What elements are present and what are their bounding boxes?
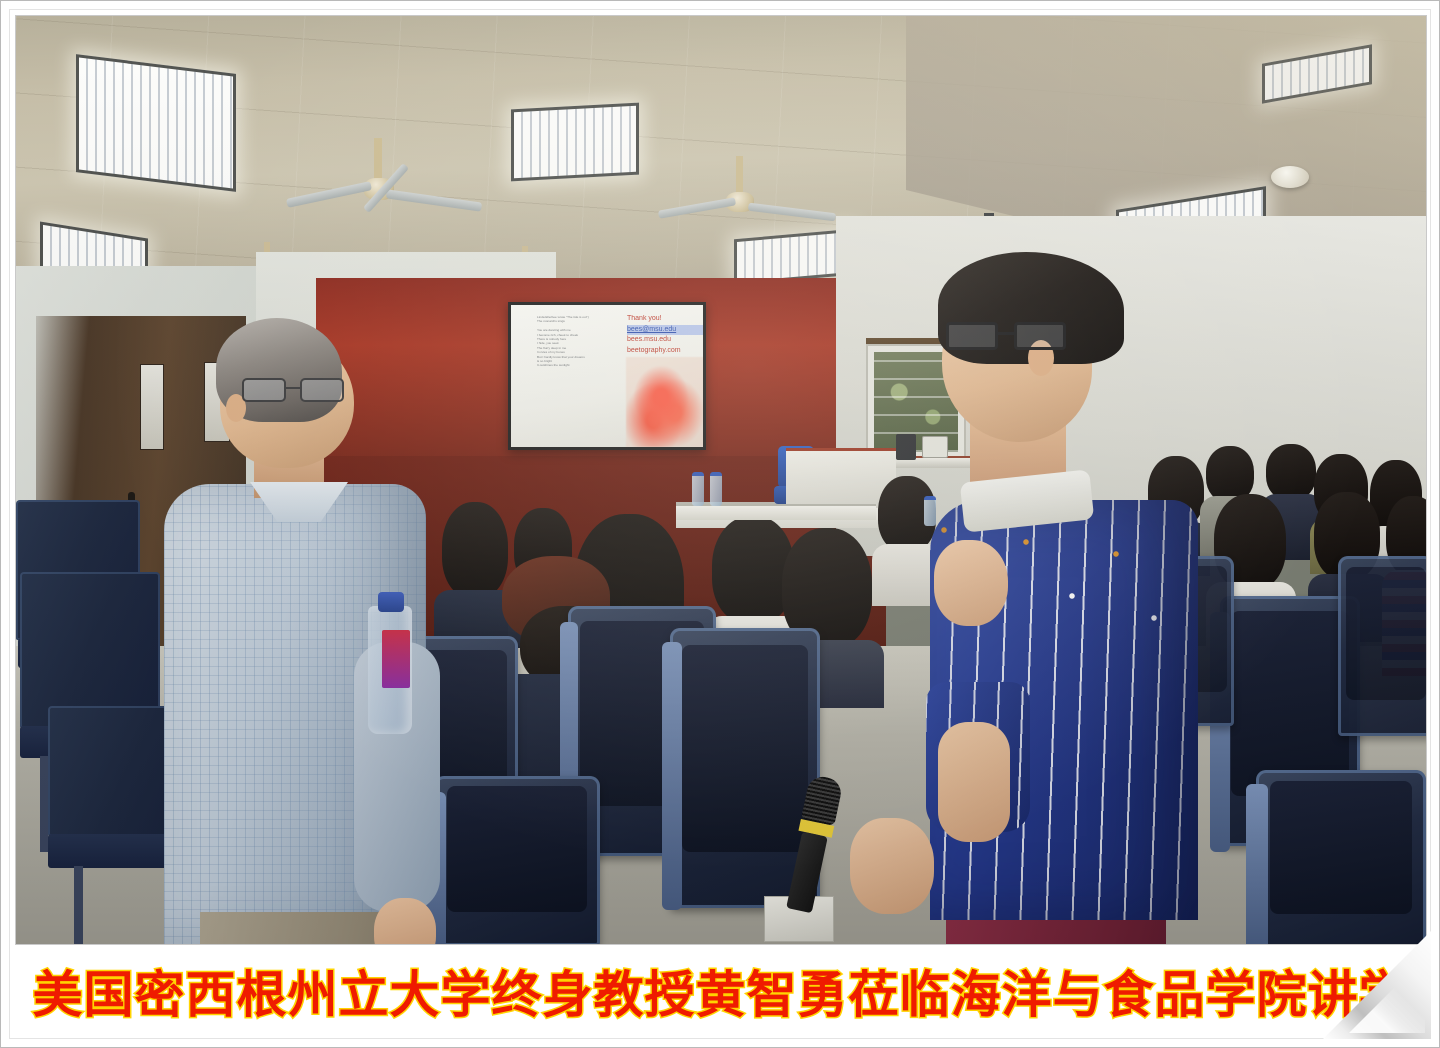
photo-frame: Linda Ellerbee wrote "The tide is out") … bbox=[0, 0, 1440, 1048]
frame-mat: Linda Ellerbee wrote "The tide is out") … bbox=[9, 9, 1431, 1039]
professor-hand bbox=[374, 898, 436, 945]
student-figure bbox=[916, 252, 1206, 945]
projection-screen: Linda Ellerbee wrote "The tide is out") … bbox=[508, 302, 706, 450]
slide-contact-block: Thank you! bees@msu.edu bees.msu.edu bee… bbox=[627, 314, 703, 356]
fluorescent-light-panel bbox=[511, 103, 639, 182]
smoke-detector bbox=[1271, 166, 1309, 188]
student-hand bbox=[934, 540, 1008, 626]
fluorescent-light-panel bbox=[76, 54, 236, 192]
water-bottle bbox=[692, 472, 704, 506]
av-equipment bbox=[896, 434, 916, 460]
eyeglasses-icon bbox=[946, 322, 1070, 352]
ceiling-fan bbox=[338, 138, 508, 228]
student-mic-hand bbox=[850, 818, 934, 914]
caption-band: 美国密西根州立大学终身教授黄智勇莅临海洋与食品学院讲学 bbox=[15, 945, 1427, 1037]
slide-poem-text: Linda Ellerbee wrote "The tide is out") … bbox=[537, 315, 615, 368]
ceiling-fan bbox=[704, 156, 854, 236]
auditorium-seat bbox=[1256, 770, 1426, 945]
slide-email-link[interactable]: bees@msu.edu bbox=[627, 325, 703, 336]
bottle-label bbox=[382, 630, 410, 688]
student-forearm bbox=[938, 722, 1010, 842]
auditorium-seat bbox=[434, 776, 600, 945]
lecture-hall-photo: Linda Ellerbee wrote "The tide is out") … bbox=[15, 15, 1427, 945]
eyeglasses-icon bbox=[242, 378, 348, 404]
caption-text: 美国密西根州立大学终身教授黄智勇莅临海洋与食品学院讲学 bbox=[33, 955, 1410, 1027]
auditorium-seat bbox=[1338, 556, 1427, 736]
desk-surface bbox=[676, 504, 876, 520]
slide-thank-you: Thank you! bbox=[627, 314, 703, 325]
bottle-cap bbox=[378, 592, 404, 612]
slide-site: bees.msu.edu bbox=[627, 335, 703, 346]
water-bottle bbox=[710, 472, 722, 506]
slide-flower-image bbox=[626, 357, 703, 447]
slide-photo-site: beetography.com bbox=[627, 346, 703, 357]
seat-rail bbox=[662, 642, 682, 910]
seat-rail bbox=[1246, 784, 1268, 945]
